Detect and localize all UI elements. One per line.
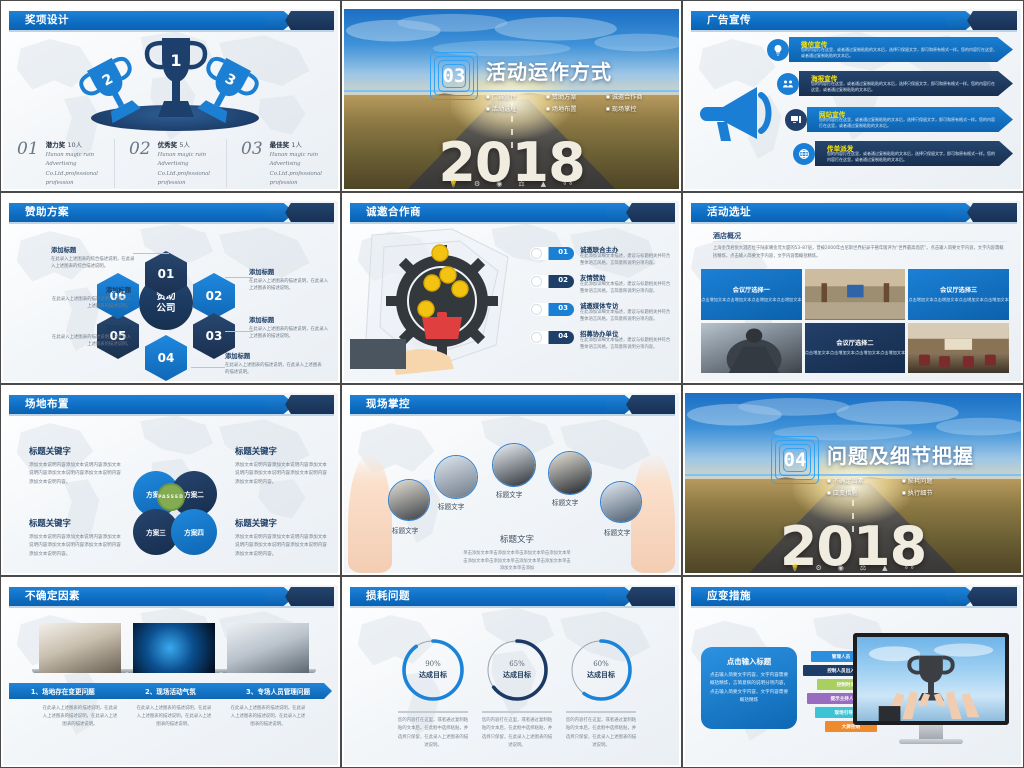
keyword-body: 添加文本说明内容添加文本说明内容添加文本说明内容添加文本说明内容添加文本说明内容…: [29, 534, 121, 559]
binoculars-icon: ⚬⚬: [904, 564, 916, 572]
leader-line: [191, 367, 225, 368]
donut-center-3: 60% 达成目标: [568, 637, 634, 703]
award-count: 1人: [291, 141, 302, 149]
target-icon: ◉: [496, 180, 502, 188]
section-items: 广告宣传 赞助方案 诚邀合作商 活动选址 场地布置 现场掌控: [486, 92, 666, 116]
ad-body: 您的内容打在这里，或者通过复制粘贴的文本后，选择只保留文字，即可和原有格式一样。…: [811, 81, 997, 93]
ad-row[interactable]: 微信宣传 您的内容打在这里，或者通过复制粘贴的文本后，选择只保留文字，即可和原有…: [767, 37, 1013, 62]
header-underline: [9, 30, 334, 32]
balance-icon: ⚖: [518, 180, 524, 188]
onsite-photo-3[interactable]: [492, 443, 536, 487]
lightbulb-icon: [767, 39, 789, 61]
page-title: 损耗问题: [366, 588, 410, 605]
header-underline: [691, 222, 1017, 224]
section-item: 场地布置: [546, 104, 606, 113]
section-title: 问题及细节把握: [827, 440, 974, 469]
partner-pill-01[interactable]: 01: [530, 247, 574, 260]
hex-label: 02: [206, 289, 223, 303]
header-dark-bar: [285, 11, 334, 30]
pill-number: 01: [558, 248, 568, 256]
hex-02[interactable]: 02: [193, 273, 235, 319]
award-count: 5人: [179, 141, 190, 149]
callout-title: 点击输入标题: [709, 656, 789, 667]
ad-body: 您的内容打在这里，或者通过复制粘贴的文本后，选择只保留文字，即可和原有格式一样。…: [801, 47, 997, 59]
stamp-label: PASSED: [158, 495, 184, 500]
photo-placeholder: [805, 269, 906, 320]
page-title: 不确定因素: [25, 588, 80, 605]
laptop-1[interactable]: [39, 623, 121, 673]
monitor[interactable]: [853, 633, 1009, 744]
donut-body-1: 您的内容打在这里，或者通过复制粘贴的文本后，在此框中选择粘贴，并选择只保留，在此…: [396, 717, 470, 750]
hex-label-body: 在此录入上述图表的描述说明，在此录入上述图表的描述说明。: [225, 362, 325, 377]
hex-label-title: 添加标题: [51, 245, 137, 254]
section-item: 执行细节: [902, 488, 977, 497]
laptop-screen: [227, 623, 309, 669]
page-title: 现场掌控: [366, 396, 410, 413]
monitor-foot: [899, 739, 963, 744]
hex-label-body: 在此录入上述图表的描述说明，在此录入上述图表的描述说明。: [51, 296, 131, 311]
page-title: 场地布置: [25, 396, 69, 413]
section-item: 损耗问题: [902, 476, 977, 485]
section-number: 04: [771, 436, 819, 484]
hex-label-body: 在此录入上述图表的综合描述说明，在此录入上述图表的综合描述说明。: [51, 256, 137, 271]
slide-section-03[interactable]: 2018 03 活动运作方式 广告宣传 赞助方案 诚邀合作商 活动选址 场地布置…: [341, 0, 682, 192]
slide-header: 诚邀合作商: [344, 203, 679, 222]
partner-body: 在此添加详细文本描述，建议与标题相关并符合整体语言风格，言简意赅说明分项内容。: [580, 337, 673, 352]
header-dark-bar: [626, 395, 675, 414]
hex-label-03: 添加标题 在此录入上述图表的描述说明，在此录入上述图表的描述说明。: [249, 315, 329, 341]
footer-icon-strip: 💡 ⚙ ◉ ⚖ ▲ ⚬⚬: [685, 564, 1021, 572]
measure-bar-label: 提示主持人: [831, 696, 854, 702]
monitor-neck: [919, 725, 943, 739]
petal-4[interactable]: 方案四: [171, 509, 217, 555]
hex-label-title: 添加标题: [51, 285, 131, 294]
slide-header: 不确定因素: [3, 587, 338, 606]
onsite-label-4: 标题文字: [552, 497, 578, 507]
donut-percent: 65%: [509, 660, 525, 668]
keyword-block-4: 标题关键字 添加文本说明内容添加文本说明内容添加文本说明内容添加文本说明内容添加…: [235, 517, 331, 559]
hex-label-title: 添加标题: [249, 267, 329, 276]
hex-label-02: 添加标题 在此录入上述图表的描述说明，在此录入上述图表的描述说明。: [249, 267, 329, 293]
hex-label-body: 在此录入上述图表的描述说明，在此录入上述图表的描述说明。: [249, 326, 329, 341]
header-underline: [691, 606, 1017, 608]
svg-text:1: 1: [170, 51, 181, 70]
measure-bar-label: 控制人员出入: [827, 668, 855, 674]
donut-rule-1: [398, 711, 468, 713]
donut-chart-1: 90% 达成目标: [400, 637, 466, 703]
pill-number: 02: [558, 276, 568, 284]
award-title: 优秀奖: [158, 141, 178, 149]
award-item[interactable]: 03 最佳奖 1人 Hunan magic rain Advertising C…: [226, 139, 338, 188]
onsite-caption-body: 单击添加文本单击添加文本单击添加文本单击添加文本单击添加文本单击添加文本单击添加…: [462, 550, 572, 573]
award-number: 03: [241, 139, 263, 188]
award-count: 10人: [67, 141, 82, 149]
ad-row[interactable]: 传单派发 您的内容打在这里，或者通过复制粘贴的文本后，选择只保留文字，即可和原有…: [793, 141, 1013, 166]
ad-body: 您的内容打在这里，或者通过复制粘贴的文本后，选择只保留文字，即可和原有格式一样。…: [819, 117, 997, 129]
pill-dot: [531, 276, 542, 287]
onsite-photo-1[interactable]: [388, 479, 430, 521]
header-underline: [691, 30, 1017, 32]
laptop-2[interactable]: [133, 623, 215, 673]
section-badge: 03: [430, 52, 478, 100]
header-dark-bar: [967, 587, 1017, 606]
laptop-screen: [39, 623, 121, 669]
page-title: 活动选址: [707, 204, 751, 221]
hex-label-title: 添加标题: [249, 315, 329, 324]
hex-label-04: 添加标题 在此录入上述图表的描述说明，在此录入上述图表的描述说明。: [225, 351, 325, 377]
ad-body: 您的内容打在这里，或者通过复制粘贴的文本后，选择只保留文字，即可和原有格式一样。…: [827, 151, 997, 163]
slide-attrition[interactable]: 损耗问题 90% 达成目标 您的内容打在这里，或者通过复制粘贴的文本后，在此框中…: [341, 576, 682, 768]
keyword-title: 标题关键字: [29, 517, 121, 529]
award-number: 02: [129, 139, 151, 188]
section-item: 现场掌控: [606, 104, 666, 113]
venue-photo-businessman[interactable]: [701, 323, 802, 374]
venue-cell-hall-3[interactable]: 会议厅选择三 点击增加文本点击增加文本点击增加文本点击增加文本: [908, 269, 1009, 320]
ribbon-label-3: 3、专场人员管理问题: [224, 683, 332, 699]
leader-line: [133, 253, 169, 254]
partner-body: 在此添加详细文本描述，建议与标题相关并符合整体语言风格，言简意赅说明分项内容。: [580, 281, 673, 296]
hex-label-05: 添加标题 在此录入上述图表的描述说明，在此录入上述图表的描述说明。: [51, 323, 131, 349]
pill-dot: [531, 248, 542, 259]
partner-pill-04[interactable]: 04: [530, 331, 574, 344]
hex-label-title: 添加标题: [51, 323, 131, 332]
keyword-title: 标题关键字: [235, 445, 331, 457]
slide-contact-sheet: 奖项设计 2: [0, 0, 1024, 768]
slide-advertising[interactable]: 广告宣传 微信宣传 您的内容打在这里，或者通过复制粘贴的文本后，选择只保留文字，…: [682, 0, 1024, 192]
pill-number: 04: [558, 332, 568, 340]
header-underline: [350, 414, 675, 416]
measures-callout[interactable]: 点击输入标题 点击输入简要文字内容，文字内容需要概括精炼，言简意赅的说明分项内容…: [701, 647, 797, 729]
page-title: 诚邀合作商: [366, 204, 421, 221]
binoculars-icon: ⚬⚬: [562, 180, 574, 188]
monitor-screen: [853, 633, 1009, 725]
donut-center-2: 65% 达成目标: [484, 637, 550, 703]
venue-cell-title: 会议厅选择二: [836, 338, 873, 347]
hex-label-title: 添加标题: [225, 351, 325, 360]
header-underline: [9, 222, 334, 224]
header-underline: [9, 414, 334, 416]
callout-body: 点击输入简要文字内容，文字内容需要概括精炼，言简意赅的说明分项内容，点击输入简要…: [709, 672, 789, 705]
venue-cell-body: 点击增加文本点击增加文本点击增加文本点击增加文本: [701, 297, 802, 304]
slide-header: 活动选址: [685, 203, 1021, 222]
laptop-3[interactable]: [227, 623, 309, 673]
slide-venue[interactable]: 活动选址 酒店概况 上海金茂君悦大酒店位于陆家嘴金茂大厦的53–87层，曾被20…: [682, 192, 1024, 384]
target-icon: ◉: [838, 564, 844, 572]
header-underline: [350, 606, 675, 608]
section-item: 应变措施: [827, 488, 902, 497]
header-dark-bar: [967, 11, 1017, 30]
award-body: Hunan magic rain Advertising Co.Ltd.prof…: [158, 151, 226, 188]
venue-photo-meeting-room[interactable]: [908, 323, 1009, 374]
photo-placeholder: [908, 323, 1009, 374]
ad-row[interactable]: 海报宣传 您的内容打在这里，或者通过复制粘贴的文本后，选择只保留文字，即可和原有…: [777, 71, 1013, 96]
slide-onsite[interactable]: 现场掌控 标题文字 标题文字 标题文字 标题文字 标题文字 标题文字: [341, 384, 682, 576]
footer-icon-strip: 💡 ⚙ ◉ ⚖ ▲ ⚬⚬: [344, 180, 679, 188]
hex-label: 04: [158, 351, 175, 365]
hex-label: 01: [158, 267, 175, 281]
venue-cell-title: 会议厅选择一: [733, 285, 770, 294]
donut-rule-2: [482, 711, 552, 713]
ad-row[interactable]: 网站宣传 您的内容打在这里，或者通过复制粘贴的文本后，选择只保留文字，即可和原有…: [785, 107, 1013, 132]
page-title: 赞助方案: [25, 204, 69, 221]
keyword-title: 标题关键字: [235, 517, 331, 529]
ribbon-label-2: 2、现场活动气氛: [117, 683, 225, 699]
slide-header: 现场掌控: [344, 395, 679, 414]
donut-label: 达成目标: [587, 670, 615, 680]
donut-percent: 90%: [425, 660, 441, 668]
donut-body-2: 您的内容打在这里，或者通过复制粘贴的文本后，在此框中选择粘贴，并选择只保留，在此…: [480, 717, 554, 750]
gear-icon: ⚙: [815, 564, 821, 572]
keyword-block-1: 标题关键字 添加文本说明内容添加文本说明内容添加文本说明内容添加文本说明内容添加…: [29, 445, 121, 487]
ribbon-label-1: 1、场地存在变更问题: [9, 683, 117, 699]
petal-label: 方案二: [184, 489, 204, 499]
venue-cell-body: 点击增加文本点击增加文本点击增加文本点击增加文本: [805, 350, 906, 357]
photo-placeholder: [701, 323, 802, 374]
award-title: 潜力奖: [46, 141, 66, 149]
section-item: 广告宣传: [486, 92, 546, 101]
section-item: 活动选址: [486, 104, 546, 113]
section-badge: 04: [771, 436, 819, 484]
trophy-hands-photo: [857, 637, 1005, 721]
slide-header: 场地布置: [3, 395, 338, 414]
bulb-icon: 💡: [449, 180, 458, 188]
hex-label-06: 添加标题 在此录入上述图表的描述说明，在此录入上述图表的描述说明。: [51, 285, 131, 311]
header-dark-bar: [285, 203, 334, 222]
slide-measures[interactable]: 应变措施 点击输入标题 点击输入简要文字内容，文字内容需要概括精炼，言简意赅的说…: [682, 576, 1024, 768]
venue-cell-hall-2[interactable]: 会议厅选择二 点击增加文本点击增加文本点击增加文本点击增加文本: [805, 323, 906, 374]
section-item: 诚邀合作商: [606, 92, 666, 101]
donut-percent: 60%: [593, 660, 609, 668]
onsite-label-1: 标题文字: [392, 525, 418, 535]
awards-list: 01 潜力奖 10人 Hunan magic rain Advertising …: [3, 139, 338, 188]
uncertainty-ribbon: 1、场地存在变更问题 2、现场活动气氛 3、专场人员管理问题: [9, 683, 332, 699]
venue-photo-conference-hall[interactable]: [805, 269, 906, 320]
keyword-block-3: 标题关键字 添加文本说明内容添加文本说明内容添加文本说明内容添加文本说明内容添加…: [29, 517, 121, 559]
petal-label: 方案四: [184, 527, 204, 537]
page-title: 奖项设计: [25, 12, 69, 29]
flag-icon: ▲: [882, 564, 887, 572]
onsite-label-2: 标题文字: [438, 501, 464, 511]
award-item[interactable]: 02 优秀奖 5人 Hunan magic rain Advertising C…: [114, 139, 226, 188]
slide-awards[interactable]: 奖项设计 2: [0, 0, 341, 192]
award-item[interactable]: 01 潜力奖 10人 Hunan magic rain Advertising …: [3, 139, 114, 188]
onsite-caption-title: 标题文字: [500, 535, 534, 545]
award-title: 最佳奖: [270, 141, 290, 149]
header-underline: [9, 606, 334, 608]
partner-pill-02[interactable]: 02: [530, 275, 574, 288]
award-body: Hunan magic rain Advertising Co.Ltd.prof…: [46, 151, 114, 188]
slide-header: 广告宣传: [685, 11, 1021, 30]
trophy-1: 1: [142, 35, 210, 121]
hex-04[interactable]: 04: [145, 335, 187, 381]
venue-cell-hall-1[interactable]: 会议厅选择一 点击增加文本点击增加文本点击增加文本点击增加文本: [701, 269, 802, 320]
donut-rule-3: [566, 711, 636, 713]
slide-uncertainty[interactable]: 不确定因素 1、场地存: [0, 576, 341, 768]
venue-intro: 上海金茂君悦大酒店位于陆家嘴金茂大厦的53–87层，曾被2000年古尼斯世界纪录…: [713, 245, 1007, 261]
decor-block: [350, 339, 406, 369]
slide-layout[interactable]: 场地布置 方案一 方案二 方案三 方案四 PASSED 标题关键字 添加文本说明…: [0, 384, 341, 576]
hex-label-body: 在此录入上述图表的描述说明，在此录入上述图表的描述说明。: [249, 278, 329, 293]
monitor-icon: [785, 109, 807, 131]
bulb-icon: 💡: [791, 564, 800, 572]
measure-bar-label: 管理人员: [832, 654, 850, 660]
keyword-body: 添加文本说明内容添加文本说明内容添加文本说明内容添加文本说明内容添加文本说明内容…: [235, 534, 331, 559]
header-dark-bar: [285, 587, 334, 606]
keyword-block-2: 标题关键字 添加文本说明内容添加文本说明内容添加文本说明内容添加文本说明内容添加…: [235, 445, 331, 487]
header-underline: [350, 222, 675, 224]
slide-header: 应变措施: [685, 587, 1021, 606]
gear-icon: ⚙: [474, 180, 480, 188]
balance-icon: ⚖: [860, 564, 866, 572]
venue-cell-body: 点击增加文本点击增加文本点击增加文本点击增加文本: [908, 297, 1009, 304]
keyword-title: 标题关键字: [29, 445, 121, 457]
section-number: 03: [430, 52, 478, 100]
donut-label: 达成目标: [419, 670, 447, 680]
core-line-2: 公司: [156, 303, 175, 315]
partner-pill-03[interactable]: 03: [530, 303, 574, 316]
hex-label-01: 添加标题 在此录入上述图表的综合描述说明，在此录入上述图表的综合描述说明。: [51, 245, 137, 271]
flag-icon: ▲: [541, 180, 546, 188]
hex-label-body: 在此录入上述图表的描述说明，在此录入上述图表的描述说明。: [51, 334, 131, 349]
section-item: 赞助方案: [546, 92, 606, 101]
onsite-photo-2[interactable]: [434, 455, 478, 499]
petal-label: 方案三: [146, 527, 166, 537]
people-icon: [777, 73, 799, 95]
donut-label: 达成目标: [503, 670, 531, 680]
header-dark-bar: [967, 203, 1017, 222]
laptop-screen: [133, 623, 215, 669]
page-title: 应变措施: [707, 588, 751, 605]
award-body: Hunan magic rain Advertising Co.Ltd.prof…: [270, 151, 338, 188]
donut-chart-3: 60% 达成目标: [568, 637, 634, 703]
header-dark-bar: [626, 587, 675, 606]
partner-body: 在此添加详细文本描述，建议与标题相关并符合整体语言风格，言简意赅说明分项内容。: [580, 309, 673, 324]
onsite-caption: 标题文字 单击添加文本单击添加文本单击添加文本单击添加文本单击添加文本单击添加文…: [462, 527, 572, 573]
slide-header: 赞助方案: [3, 203, 338, 222]
onsite-photo-4[interactable]: [548, 451, 592, 495]
uncertainty-body-3: 在此录入上述图表的描述说明，在此录入上述图表的描述说明，在此录入上述图表的描述说…: [229, 705, 307, 729]
donut-center-1: 90% 达成目标: [400, 637, 466, 703]
slide-header: 奖项设计: [3, 11, 338, 30]
partner-body: 在此添加详细文本描述，建议与标题相关并符合整体语言风格，言简意赅说明分项内容。: [580, 253, 673, 268]
slide-section-04[interactable]: 2018 04 问题及细节把握 不确定因素 损耗问题 应变措施 执行细节 💡 ⚙: [682, 384, 1024, 576]
award-number: 01: [17, 139, 39, 188]
hex-label: 03: [206, 329, 223, 343]
uncertainty-body-2: 在此录入上述图表的描述说明，在此录入上述图表的描述说明，在此录入上述图表的描述说…: [135, 705, 213, 729]
header-dark-bar: [626, 203, 675, 222]
donut-body-3: 您的内容打在这里，或者通过复制粘贴的文本后，在此框中选择粘贴，并选择只保留，在此…: [564, 717, 638, 750]
onsite-label-5: 标题文字: [604, 527, 630, 537]
keyword-body: 添加文本说明内容添加文本说明内容添加文本说明内容添加文本说明内容添加文本说明内容…: [235, 462, 331, 487]
pill-dot: [531, 332, 542, 343]
section-title: 活动运作方式: [486, 56, 612, 85]
header-dark-bar: [285, 395, 334, 414]
onsite-label-3: 标题文字: [496, 489, 522, 499]
world-map-watermark: [3, 585, 338, 765]
slide-partner-invite[interactable]: 诚邀合作商: [341, 192, 682, 384]
section-item: 不确定因素: [827, 476, 902, 485]
venue-cell-title: 会议厅选择三: [940, 285, 977, 294]
onsite-photo-5[interactable]: [600, 481, 642, 523]
venue-rule: [713, 241, 1007, 242]
globe-icon: [793, 143, 815, 165]
pill-number: 03: [558, 304, 568, 312]
slide-sponsor[interactable]: 赞助方案 赞助 公司 01 02 03 04 05 06 添加标题 在此录入上述…: [0, 192, 341, 384]
donut-chart-2: 65% 达成目标: [484, 637, 550, 703]
pill-dot: [531, 304, 542, 315]
venue-grid: 会议厅选择一 点击增加文本点击增加文本点击增加文本点击增加文本: [701, 269, 1009, 373]
venue-subhead: 酒店概况: [713, 231, 741, 241]
slide-header: 损耗问题: [344, 587, 679, 606]
left-hand: [348, 453, 392, 573]
uncertainty-body-1: 在此录入上述图表的描述说明，在此录入上述图表的描述说明，在此录入上述图表的描述说…: [41, 705, 119, 729]
megaphone-icon: [699, 81, 775, 149]
section-items: 不确定因素 损耗问题 应变措施 执行细节: [827, 476, 977, 500]
passed-stamp: PASSED: [157, 483, 185, 511]
page-title: 广告宣传: [707, 12, 751, 29]
keyword-body: 添加文本说明内容添加文本说明内容添加文本说明内容添加文本说明内容添加文本说明内容…: [29, 462, 121, 487]
